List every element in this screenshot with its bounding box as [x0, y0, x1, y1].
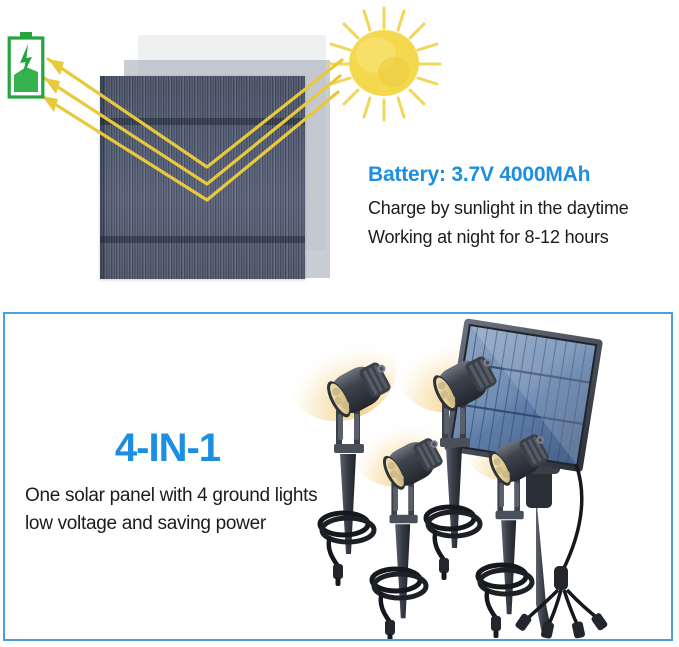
battery-text-block: Battery: 3.7V 4000MAh Charge by sunlight… [368, 163, 668, 256]
battery-line-2: Working at night for 8-12 hours [368, 227, 668, 248]
four-in-one-headline: 4-IN-1 [25, 426, 310, 471]
panel-left-edge [100, 76, 105, 279]
four-in-one-feature-panel: 4-IN-1 One solar panel with 4 ground lig… [3, 312, 673, 641]
panel-busbar-bottom [100, 236, 305, 243]
battery-headline: Battery: 3.7V 4000MAh [368, 163, 668, 187]
battery-line-1: Charge by sunlight in the daytime [368, 198, 668, 219]
sun-icon [322, 2, 446, 126]
battery-feature-panel: Battery: 3.7V 4000MAh Charge by sunlight… [0, 0, 679, 311]
solar-spotlight-set-photo [290, 314, 673, 641]
battery-charging-icon [7, 31, 45, 99]
panel-busbar-top [100, 118, 305, 125]
solar-cell-panel [100, 76, 305, 279]
